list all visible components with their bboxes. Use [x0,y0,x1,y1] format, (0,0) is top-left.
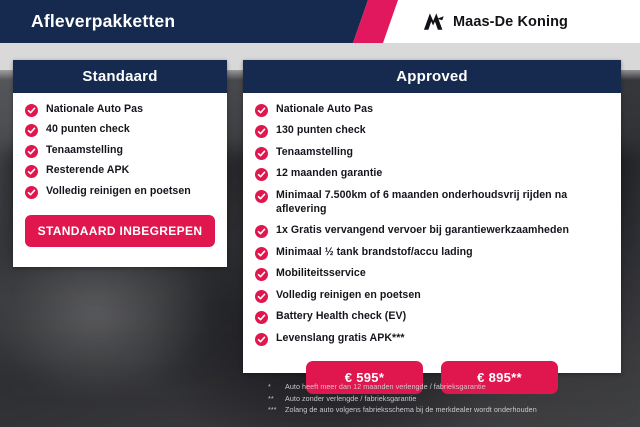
package-card-standaard: Standaard Nationale Auto Pas 40 punten c… [13,60,227,267]
footnote-text: Auto heeft meer dan 12 maanden verlengde… [285,381,628,393]
feature-label: Mobiliteitsservice [276,267,366,279]
check-circle-icon [255,333,268,346]
page-header: Afleverpakketten Maas-De Koning [0,0,640,43]
check-circle-icon [25,124,38,137]
check-circle-icon [25,186,38,199]
feature-label: Volledig reinigen en poetsen [46,185,191,197]
check-circle-icon [255,168,268,181]
card-title-standaard: Standaard [13,60,227,93]
feature-list-standaard: Nationale Auto Pas 40 punten check Tenaa… [25,103,215,199]
check-circle-icon [255,125,268,138]
check-circle-icon [25,145,38,158]
card-body-approved: Nationale Auto Pas 130 punten check Tena… [243,93,621,346]
list-item: Nationale Auto Pas [255,103,609,117]
check-circle-icon [255,311,268,324]
footnote-text: Zolang de auto volgens fabrieksschema bi… [285,404,628,416]
feature-label: Levenslang gratis APK*** [276,332,405,344]
feature-label: 40 punten check [46,123,130,135]
footnote-marker: *** [268,404,285,416]
list-item: Resterende APK [25,164,215,178]
list-item: Tenaamstelling [25,144,215,158]
list-item: Nationale Auto Pas [25,103,215,117]
page-root: Afleverpakketten Maas-De Koning Standaar… [0,0,640,427]
check-circle-icon [255,268,268,281]
feature-label: 1x Gratis vervangend vervoer bij garanti… [276,224,569,236]
check-circle-icon [255,247,268,260]
feature-label: Tenaamstelling [276,146,353,158]
check-circle-icon [25,165,38,178]
check-circle-icon [255,147,268,160]
list-item: 40 punten check [25,123,215,137]
card-footer-standaard: STANDAARD INBEGREPEN [13,205,227,247]
maas-de-koning-m-logo-icon [421,12,445,31]
feature-label: Tenaamstelling [46,144,123,156]
feature-label: Volledig reinigen en poetsen [276,289,421,301]
list-item: 12 maanden garantie [255,167,609,181]
list-item: Mobiliteitsservice [255,267,609,281]
brand-name: Maas-De Koning [453,14,568,30]
standaard-inbegrepen-button[interactable]: STANDAARD INBEGREPEN [25,215,215,247]
card-title-approved: Approved [243,60,621,93]
footnote-text: Auto zonder verlengde / fabrieksgarantie [285,393,628,405]
feature-label: Nationale Auto Pas [46,103,143,115]
check-circle-icon [255,290,268,303]
list-item: 130 punten check [255,124,609,138]
feature-label: Resterende APK [46,164,129,176]
footnote-2: ** Auto zonder verlengde / fabrieksgaran… [268,393,628,405]
check-circle-icon [255,190,268,203]
feature-label: Minimaal ½ tank brandstof/accu lading [276,246,473,258]
feature-label: 130 punten check [276,124,366,136]
brand-logo: Maas-De Koning [421,0,568,43]
feature-label: Nationale Auto Pas [276,103,373,115]
check-circle-icon [255,104,268,117]
footnote-1: * Auto heeft meer dan 12 maanden verleng… [268,381,628,393]
list-item: Tenaamstelling [255,146,609,160]
footnotes: * Auto heeft meer dan 12 maanden verleng… [268,381,628,416]
check-circle-icon [255,225,268,238]
page-title: Afleverpakketten [31,0,175,43]
list-item: Minimaal 7.500km of 6 maanden onderhouds… [255,189,609,217]
feature-label: 12 maanden garantie [276,167,382,179]
feature-list-approved: Nationale Auto Pas 130 punten check Tena… [255,103,609,346]
feature-label: Battery Health check (EV) [276,310,406,322]
footnote-3: *** Zolang de auto volgens fabrieksschem… [268,404,628,416]
feature-label: Minimaal 7.500km of 6 maanden onderhouds… [276,189,567,215]
list-item: 1x Gratis vervangend vervoer bij garanti… [255,224,609,238]
list-item: Volledig reinigen en poetsen [25,185,215,199]
check-circle-icon [25,104,38,117]
footnote-marker: ** [268,393,285,405]
list-item: Levenslang gratis APK*** [255,332,609,346]
package-card-approved: Approved Nationale Auto Pas 130 punten c… [243,60,621,373]
footnote-marker: * [268,381,285,393]
list-item: Minimaal ½ tank brandstof/accu lading [255,246,609,260]
list-item: Battery Health check (EV) [255,310,609,324]
list-item: Volledig reinigen en poetsen [255,289,609,303]
card-body-standaard: Nationale Auto Pas 40 punten check Tenaa… [13,93,227,199]
